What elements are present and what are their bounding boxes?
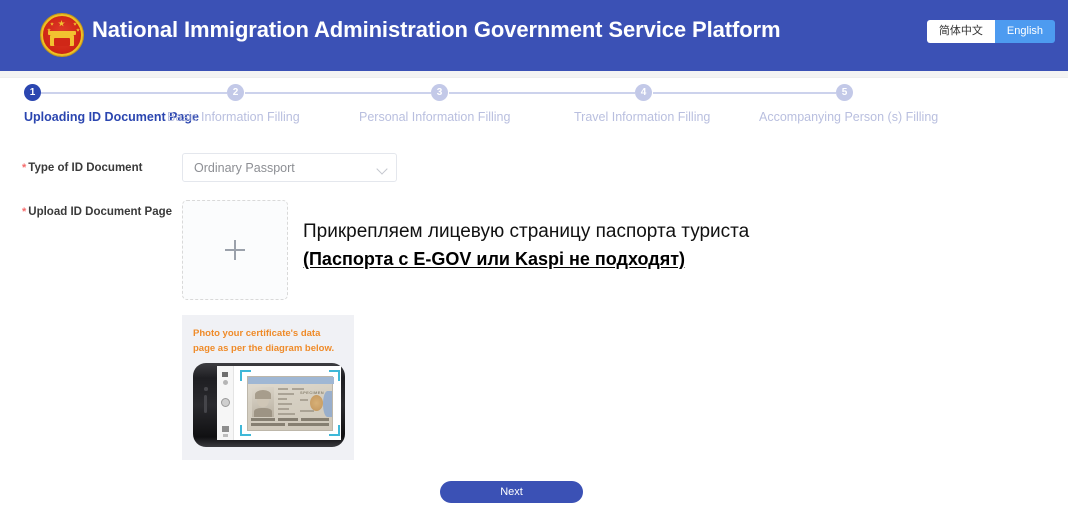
camera-controls-strip: [217, 366, 234, 440]
lang-button-chinese[interactable]: 简体中文: [927, 20, 995, 43]
scan-bracket-bottom-left: [240, 425, 251, 436]
id-type-select[interactable]: Ordinary Passport: [182, 153, 397, 182]
header-divider: [0, 71, 1068, 78]
phone-scanning-passport-icon: SPECIMEN: [193, 361, 345, 449]
phone-camera-icon: [204, 387, 208, 391]
passport-portrait-photo: [252, 387, 274, 417]
passport-data-page-icon: SPECIMEN: [247, 376, 333, 431]
id-type-selected-value: Ordinary Passport: [194, 161, 295, 175]
passport-ghost-portrait: [310, 395, 323, 411]
scan-bracket-top-right: [329, 370, 340, 381]
stepper-number-1: 1: [24, 84, 41, 101]
stepper-label-4: Travel Information Filling: [574, 110, 710, 124]
app-header: National Immigration Administration Gove…: [0, 0, 1068, 71]
stepper-label-3: Personal Information Filling: [359, 110, 510, 124]
next-button[interactable]: Next: [440, 481, 583, 503]
passport-specimen-label: SPECIMEN: [300, 390, 324, 395]
upload-id-document-dropzone[interactable]: [182, 200, 288, 300]
passport-mrz-lines: [251, 418, 331, 427]
annotation-line-2: (Паспорта с E-GOV или Kaspi не подходят): [303, 246, 773, 272]
stepper-label-5: Accompanying Person (s) Filling: [759, 110, 938, 124]
stepper-connector-1: [41, 92, 227, 94]
phone-speaker: [204, 395, 207, 413]
language-toggle[interactable]: 简体中文 English: [927, 20, 1055, 43]
scan-bracket-top-left: [240, 370, 251, 381]
stepper-number-3: 3: [431, 84, 448, 101]
annotation-line-1: Прикрепляем лицевую страницу паспорта ту…: [303, 218, 773, 246]
scan-bracket-bottom-right: [329, 425, 340, 436]
id-type-label-text: Type of ID Document: [28, 162, 142, 174]
stepper-number-5: 5: [836, 84, 853, 101]
stepper-number-2: 2: [227, 84, 244, 101]
stepper-connector-2: [245, 92, 431, 94]
annotation-overlay: Прикрепляем лицевую страницу паспорта ту…: [303, 218, 773, 272]
plus-icon: [225, 240, 245, 260]
chevron-down-icon: [376, 163, 387, 174]
china-national-emblem-icon: [38, 11, 86, 59]
progress-stepper: 1 Uploading ID Document Page 2 Basic Inf…: [0, 84, 1068, 134]
lang-button-english[interactable]: English: [995, 20, 1055, 43]
required-asterisk-id-type: *: [22, 162, 26, 174]
stepper-connector-3: [449, 92, 635, 94]
phone-screen: SPECIMEN: [217, 366, 341, 440]
required-asterisk-upload: *: [22, 206, 26, 218]
page-title: National Immigration Administration Gove…: [92, 17, 780, 43]
stepper-connector-4: [653, 92, 836, 94]
upload-label-text: Upload ID Document Page: [28, 206, 172, 218]
upload-label: *Upload ID Document Page: [22, 206, 172, 218]
stepper-number-4: 4: [635, 84, 652, 101]
upload-instruction-panel: Photo your certificate's data page as pe…: [182, 315, 354, 460]
instruction-text: Photo your certificate's data page as pe…: [193, 326, 345, 356]
id-type-label: *Type of ID Document: [22, 162, 142, 174]
stepper-label-2: Basic Information Filling: [167, 110, 300, 124]
